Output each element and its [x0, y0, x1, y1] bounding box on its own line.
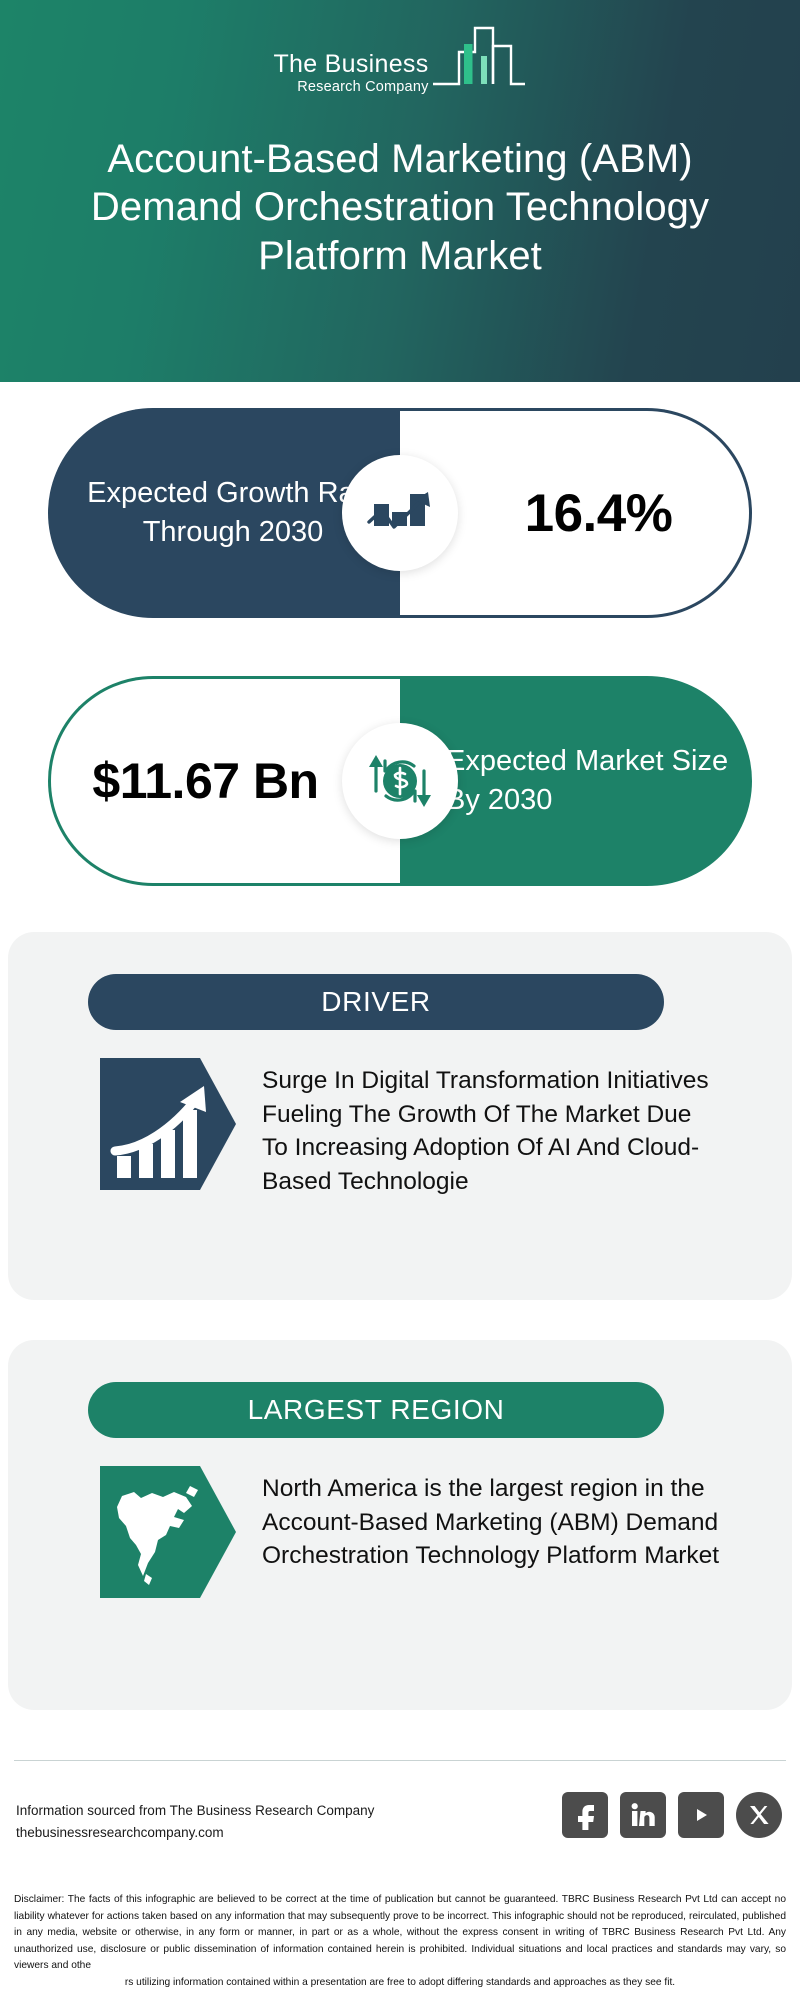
brand-logo: The Business Research Company [0, 22, 800, 101]
bar-chart-logo-icon [431, 22, 527, 99]
disclaimer-last-line: rs utilizing information contained withi… [14, 1975, 786, 1992]
driver-heading-pill: DRIVER [88, 974, 664, 1030]
expected-market-size-card: $11.67 Bn Expected Market Size By 2030 [48, 676, 752, 886]
infographic-page: The Business Research Company Account-Ba… [0, 0, 800, 2000]
dollar-circulation-icon [342, 723, 458, 839]
largest-region-heading-pill: LARGEST REGION [88, 1382, 664, 1438]
facebook-icon[interactable] [562, 1792, 608, 1838]
largest-region-heading-label: LARGEST REGION [248, 1394, 505, 1426]
footer-divider [14, 1760, 786, 1761]
driver-heading-label: DRIVER [321, 986, 430, 1018]
driver-panel: DRIVER Surge In Digital Transformation I… [8, 932, 792, 1300]
brand-logo-text: The Business Research Company [273, 50, 428, 101]
disclaimer-text: Disclaimer: The facts of this infographi… [14, 1892, 786, 1991]
brand-logo-line2: Research Company [273, 79, 428, 95]
footer-source-line: Information sourced from The Business Re… [16, 1800, 374, 1822]
growth-rate-value: 16.4% [477, 483, 673, 544]
brand-logo-line1: The Business [273, 50, 428, 78]
x-twitter-icon[interactable] [736, 1792, 782, 1838]
footer-source-block: Information sourced from The Business Re… [16, 1800, 374, 1844]
linkedin-icon[interactable] [620, 1792, 666, 1838]
footer-website-link[interactable]: thebusinessresearchcompany.com [16, 1822, 374, 1844]
youtube-icon[interactable] [678, 1792, 724, 1838]
market-size-value: $11.67 Bn [92, 752, 358, 811]
expected-growth-rate-card: Expected Growth Rate Through 2030 16.4% [48, 408, 752, 618]
largest-region-body: North America is the largest region in t… [100, 1466, 720, 1598]
north-america-map-icon [100, 1466, 236, 1598]
largest-region-text: North America is the largest region in t… [262, 1466, 720, 1573]
header-banner: The Business Research Company Account-Ba… [0, 0, 800, 382]
growth-arrow-bars-icon [100, 1058, 236, 1190]
page-title: Account-Based Marketing (ABM) Demand Orc… [0, 135, 800, 280]
disclaimer-main: Disclaimer: The facts of this infographi… [14, 1894, 786, 1971]
largest-region-panel: LARGEST REGION North America is the larg… [8, 1340, 792, 1710]
growth-chart-arrow-icon [342, 455, 458, 571]
driver-body: Surge In Digital Transformation Initiati… [100, 1058, 720, 1198]
driver-text: Surge In Digital Transformation Initiati… [262, 1058, 720, 1198]
social-links [562, 1792, 782, 1838]
